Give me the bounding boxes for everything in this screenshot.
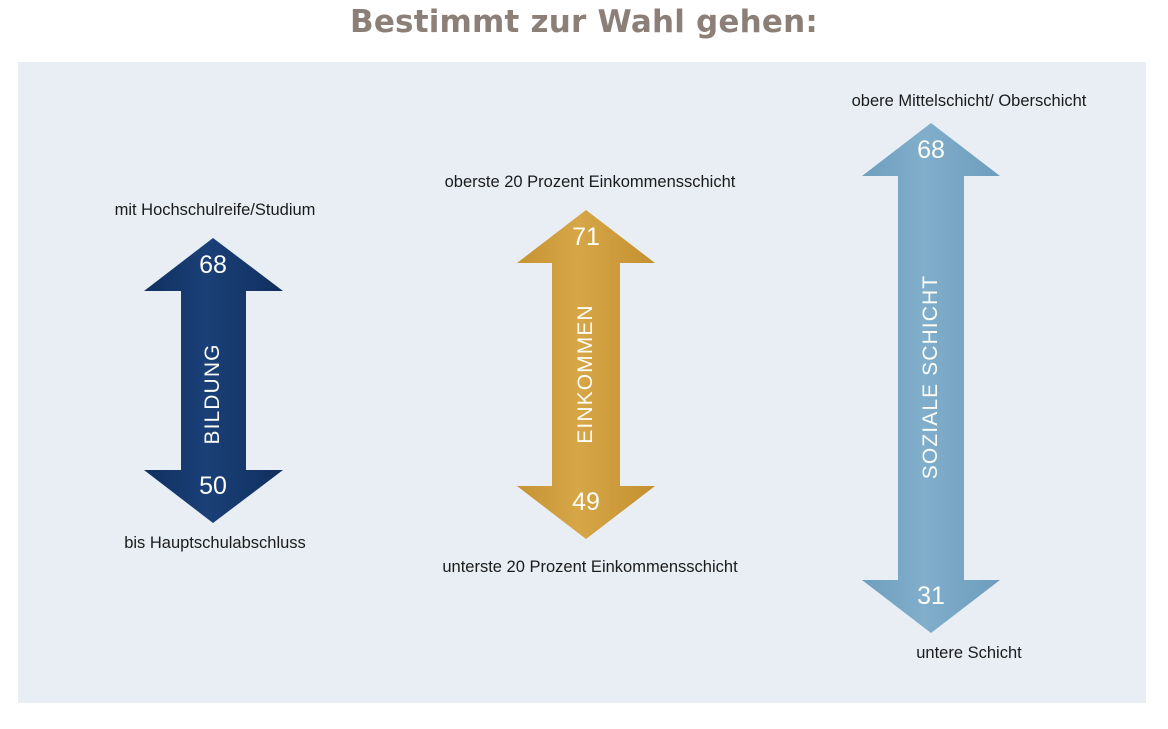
bottom-value-einkommen: 49	[531, 489, 641, 515]
arrow-group-einkommen: oberste 20 Prozent Einkommensschicht 71 …	[380, 0, 800, 729]
axis-label-bildung: BILDUNG	[201, 294, 225, 494]
top-value-bildung: 68	[158, 252, 268, 278]
axis-label-einkommen: EINKOMMEN	[574, 274, 598, 474]
axis-label-soziale-schicht: SOZIALE SCHICHT	[919, 252, 943, 502]
arrow-group-bildung: mit Hochschulreife/Studium 68 BILDUNG 50…	[0, 0, 430, 729]
top-value-einkommen: 71	[531, 224, 641, 250]
bottom-caption-bildung: bis Hauptschulabschluss	[0, 533, 430, 553]
bottom-value-soziale-schicht: 31	[876, 583, 986, 609]
top-value-soziale-schicht: 68	[876, 137, 986, 163]
double-arrow-soziale-schicht	[770, 0, 1168, 729]
bottom-value-bildung: 50	[158, 473, 268, 499]
bottom-caption-soziale-schicht: untere Schicht	[770, 643, 1168, 663]
bottom-caption-einkommen: unterste 20 Prozent Einkommensschicht	[380, 557, 800, 577]
arrow-group-soziale-schicht: obere Mittelschicht/ Oberschicht 68 SOZI…	[770, 0, 1168, 729]
